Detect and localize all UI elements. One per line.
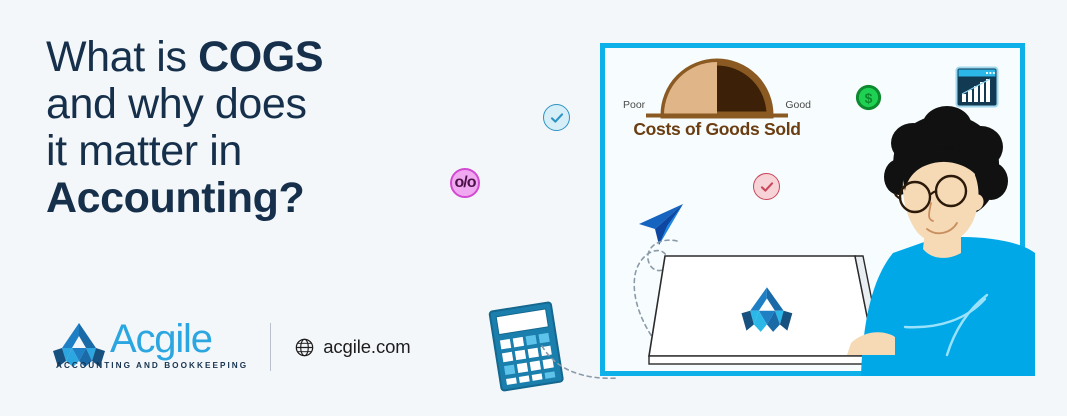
website-link[interactable]: acgile.com: [295, 336, 410, 358]
brand-lockup: Acgile ACCOUNTING AND BOOKKEEPING acgile…: [50, 316, 411, 378]
percent-icon: o/o: [455, 174, 476, 192]
check-icon: [759, 179, 775, 195]
acgile-wordmark: Acgile: [110, 319, 248, 359]
calculator-trail-path: [540, 340, 620, 385]
illustration-panel: Poor Good Costs of Goods Sold o/o $: [600, 43, 1025, 376]
acgile-wordmark-block: Acgile ACCOUNTING AND BOOKKEEPING: [110, 319, 248, 370]
gauge-label-high: Good: [785, 99, 811, 111]
acgile-tagline: ACCOUNTING AND BOOKKEEPING: [56, 361, 248, 370]
headline-line-3: it matter in: [46, 128, 386, 175]
gauge-dial-icon: [622, 55, 812, 125]
gauge-label-low: Poor: [623, 99, 645, 111]
check-badge-blue: [543, 104, 570, 131]
website-url-text: acgile.com: [323, 336, 410, 358]
check-icon: [549, 110, 565, 126]
check-badge-red: [753, 173, 780, 200]
headline-line-1: What is COGS: [46, 34, 386, 81]
lockup-divider: [270, 323, 271, 371]
headline-text-cogs: COGS: [198, 33, 323, 81]
headline-text-plain: What is: [46, 33, 198, 81]
acgile-logo[interactable]: Acgile ACCOUNTING AND BOOKKEEPING: [50, 319, 248, 375]
gauge-title: Costs of Goods Sold: [622, 119, 812, 140]
page-title: What is COGS and why does it matter in A…: [46, 34, 386, 222]
globe-icon: [295, 338, 314, 357]
person-figure: [835, 103, 1035, 376]
cogs-gauge-widget: Poor Good Costs of Goods Sold: [622, 55, 812, 153]
percent-badge: o/o: [450, 168, 480, 198]
headline-line-2: and why does: [46, 81, 386, 128]
banner-root: What is COGS and why does it matter in A…: [0, 0, 1067, 416]
bar-chart-window-badge: [955, 66, 999, 108]
headline-line-4: Accounting?: [46, 175, 386, 222]
bar-chart-window-icon: [955, 66, 999, 108]
